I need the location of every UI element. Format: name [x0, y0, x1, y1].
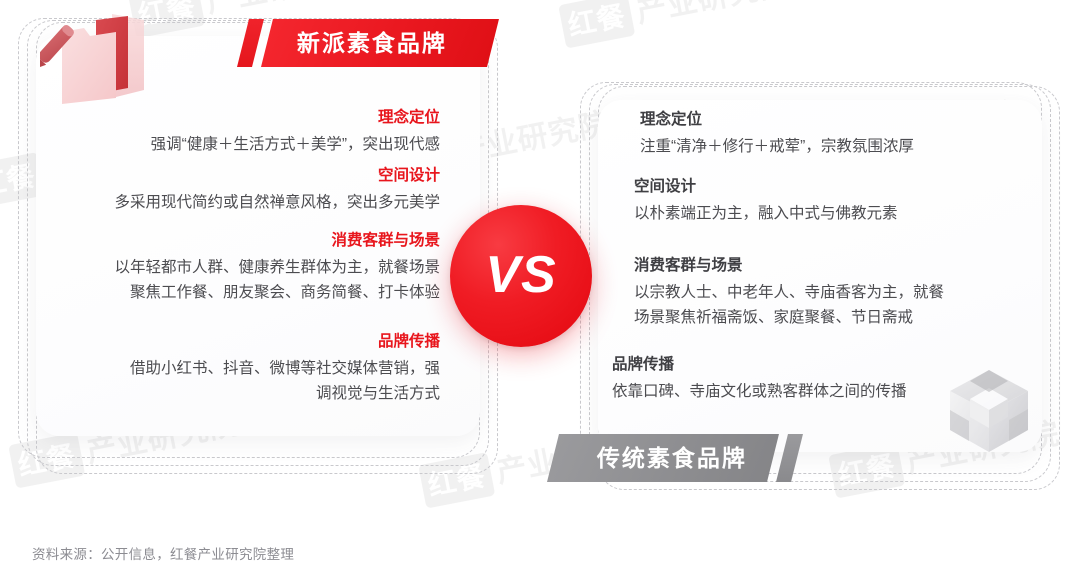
left-block-space-design: 空间设计 多采用现代简约或自然禅意风格，突出多元美学 — [50, 166, 440, 215]
block-desc: 依靠口碑、寺庙文化或熟客群体之间的传播 — [612, 379, 1032, 404]
banner-main-shape: 传统素食品牌 — [547, 434, 779, 482]
block-title: 空间设计 — [634, 177, 1034, 197]
left-block-concept: 理念定位 强调“健康＋生活方式＋美学”，突出现代感 — [50, 108, 440, 157]
right-block-space-design: 空间设计 以朴素端正为主，融入中式与佛教元素 — [634, 177, 1034, 226]
block-title: 消费客群与场景 — [634, 256, 1034, 276]
banner-main-shape: 新派素食品牌 — [261, 19, 499, 67]
infographic-canvas: 红餐产业研究院 红餐产业研究院 红餐产业研究院 红餐产业研究院 红餐产业研究院 … — [0, 0, 1080, 572]
block-desc: 多采用现代简约或自然禅意风格，突出多元美学 — [50, 190, 440, 215]
right-panel-banner-label: 传统素食品牌 — [597, 447, 747, 470]
block-desc: 借助小红书、抖音、微博等社交媒体营销，强 调视觉与生活方式 — [50, 356, 440, 406]
left-block-brand-communication: 品牌传播 借助小红书、抖音、微博等社交媒体营销，强 调视觉与生活方式 — [50, 332, 440, 406]
block-title: 品牌传播 — [50, 332, 440, 352]
right-panel-banner: 传统素食品牌 — [553, 434, 797, 482]
right-block-customers-scenarios: 消费客群与场景 以宗教人士、中老年人、寺庙香客为主，就餐 场景聚焦祈福斋饭、家庭… — [634, 256, 1034, 330]
right-block-brand-communication: 品牌传播 依靠口碑、寺庙文化或熟客群体之间的传播 — [612, 355, 1032, 404]
watermark-text: 产业研究院 — [204, 0, 362, 19]
block-desc: 以宗教人士、中老年人、寺庙香客为主，就餐 场景聚焦祈福斋饭、家庭聚餐、节日斋戒 — [634, 280, 1034, 330]
watermark-text: 产业研究院 — [634, 0, 792, 29]
right-block-concept: 理念定位 注重“清净＋修行＋戒荤”，宗教氛围浓厚 — [640, 110, 1040, 159]
left-panel-banner: 新派素食品牌 — [243, 19, 493, 67]
block-title: 品牌传播 — [612, 355, 1032, 375]
folder-pencil-icon — [40, 6, 158, 110]
block-title: 理念定位 — [640, 110, 1040, 130]
block-title: 空间设计 — [50, 166, 440, 186]
block-desc: 强调“健康＋生活方式＋美学”，突出现代感 — [50, 132, 440, 157]
left-panel-banner-label: 新派素食品牌 — [297, 32, 447, 55]
vs-badge: VS — [450, 205, 592, 347]
block-title: 理念定位 — [50, 108, 440, 128]
block-desc: 以朴素端正为主，融入中式与佛教元素 — [634, 201, 1034, 226]
block-title: 消费客群与场景 — [40, 231, 440, 251]
block-desc: 以年轻都市人群、健康养生群体为主，就餐场景 聚焦工作餐、朋友聚会、商务简餐、打卡… — [40, 255, 440, 305]
source-note: 资料来源：公开信息，红餐产业研究院整理 — [32, 543, 294, 563]
vs-label: VS — [485, 249, 556, 301]
left-block-customers-scenarios: 消费客群与场景 以年轻都市人群、健康养生群体为主，就餐场景 聚焦工作餐、朋友聚会… — [40, 231, 440, 305]
block-desc: 注重“清净＋修行＋戒荤”，宗教氛围浓厚 — [640, 134, 1040, 159]
watermark-brand: 红餐 — [558, 0, 635, 49]
